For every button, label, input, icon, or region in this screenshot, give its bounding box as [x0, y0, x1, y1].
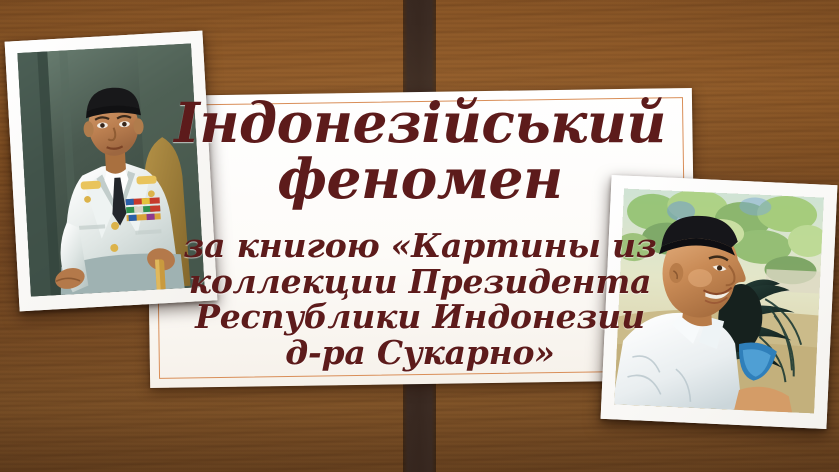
photo-frame-sukarno-portrait[interactable] [5, 31, 218, 312]
portrait-painting-left [17, 43, 204, 296]
portrait-artwork-right-svg [614, 189, 824, 414]
portrait-painting-right [614, 189, 824, 414]
portrait-artwork-left-svg [17, 43, 204, 296]
presentation-slide: Індонезійський феномен за книгою «Картин… [0, 0, 839, 472]
photo-frame-sukarno-young[interactable] [601, 175, 838, 429]
photo-image-sukarno-portrait [17, 43, 204, 296]
photo-image-sukarno-young [614, 189, 824, 414]
